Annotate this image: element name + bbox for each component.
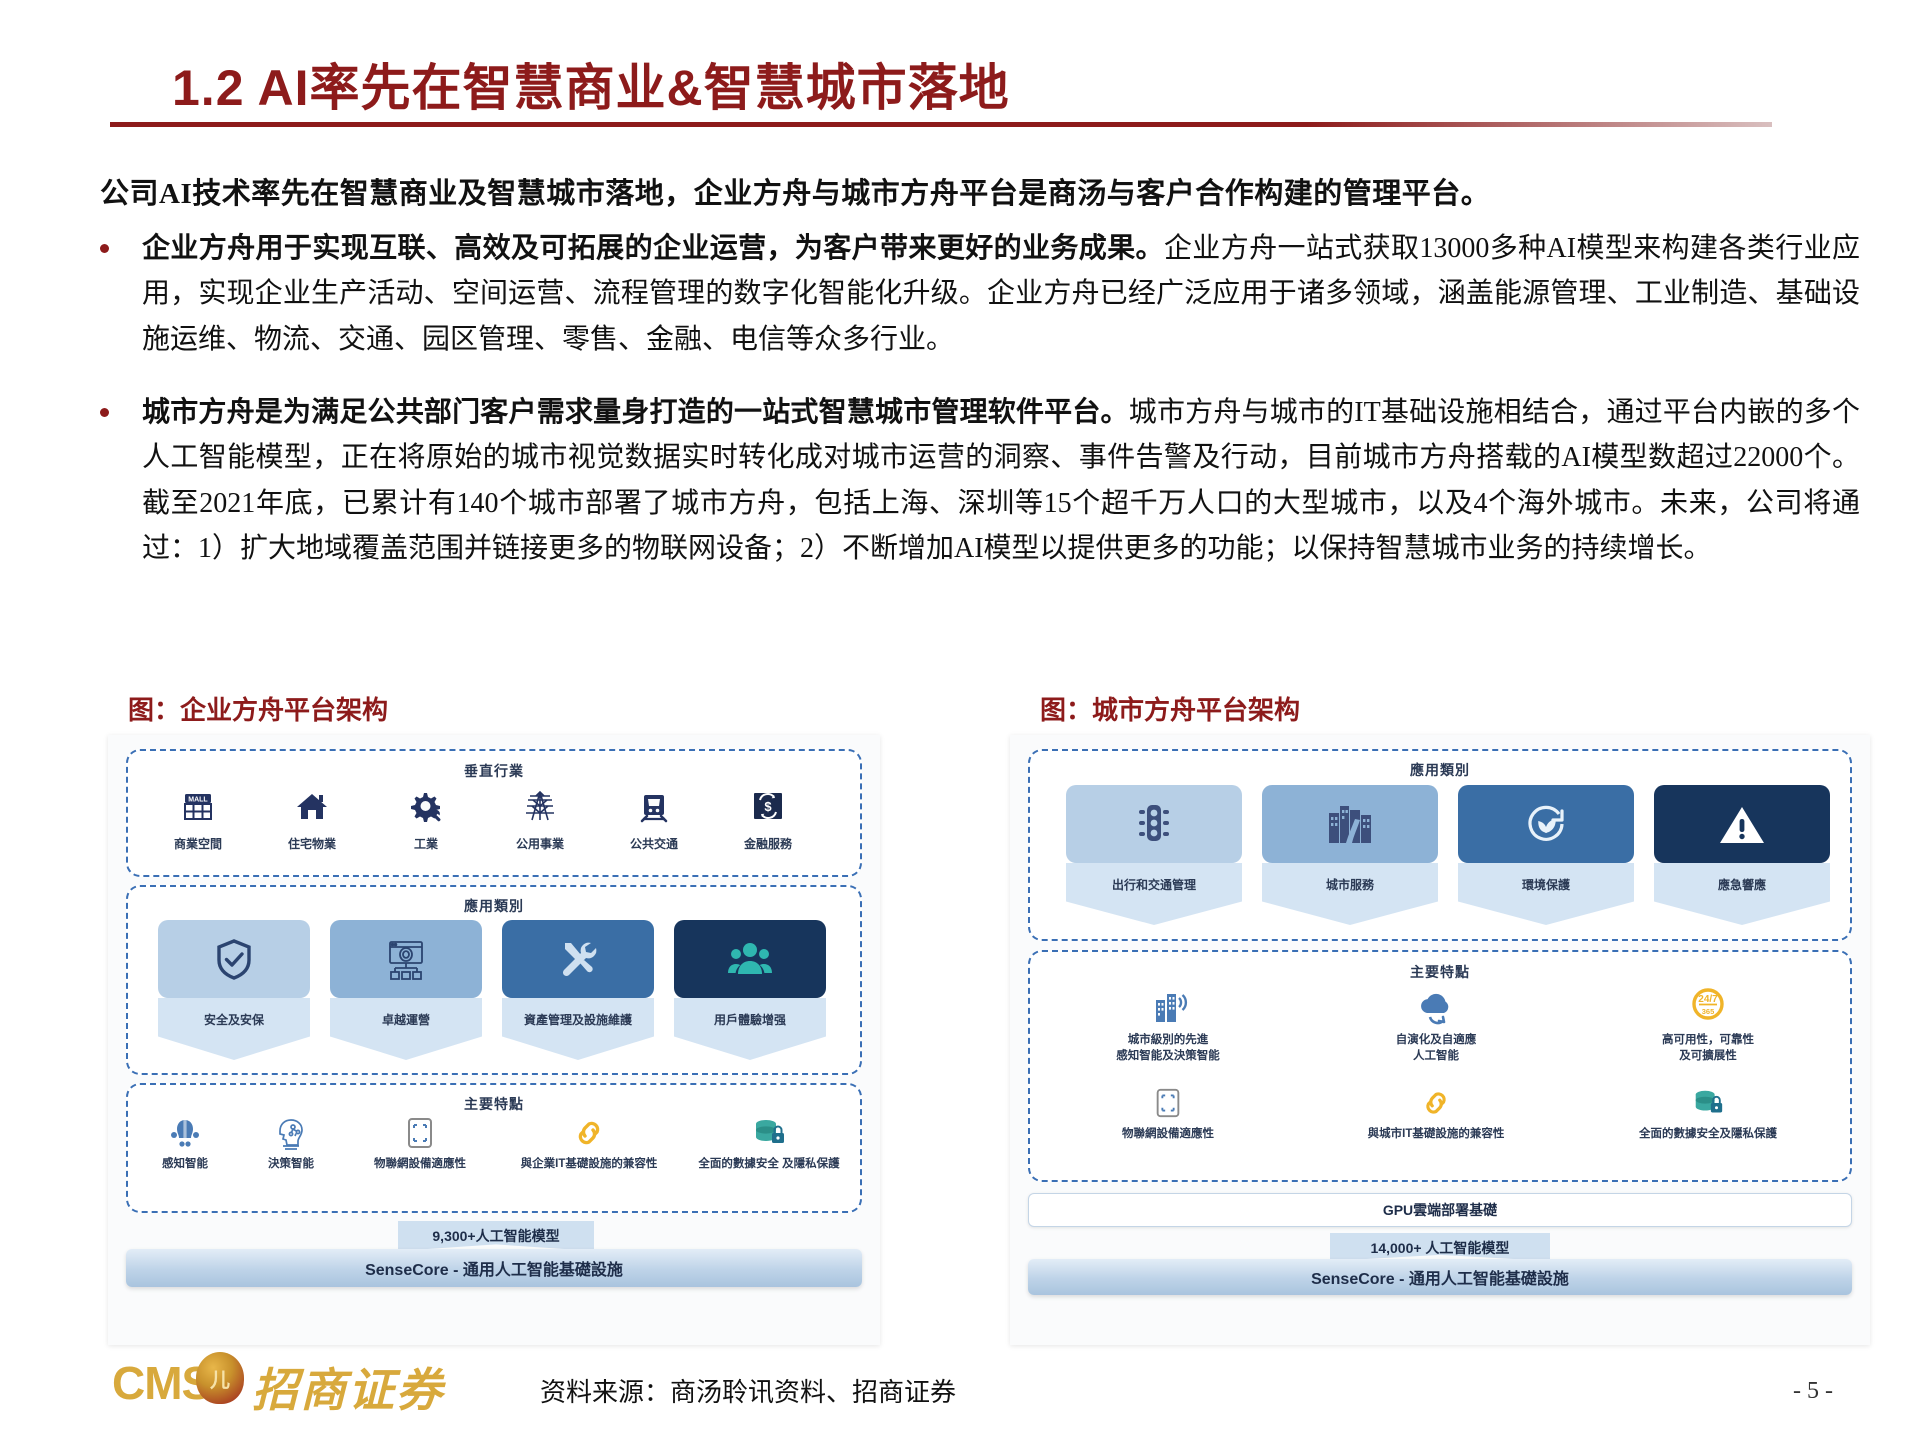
figure-caption-left: 图：企业方舟平台架构 (128, 690, 388, 727)
bullet-1-bold: 企业方舟用于实现互联、高效及可拓展的企业运营，为客户带来更好的业务成果。 (142, 233, 1164, 264)
app-card-emergency[interactable]: 應急響應 (1654, 785, 1830, 925)
iot-frame-icon (1060, 1083, 1276, 1123)
source-note: 资料来源：商汤聆讯资料、招商证券 (540, 1372, 956, 1409)
bullet-2-bold: 城市方舟是为满足公共部门客户需求量身打造的一站式智慧城市管理软件平台。 (142, 397, 1129, 428)
cms-logo-cn: 招商证券 (252, 1354, 444, 1420)
dashboard-icon (330, 920, 482, 998)
feature-iot-right: 物聯網設備適應性 (1060, 1083, 1276, 1143)
app-card-label-wrap: 安全及安保 (158, 998, 310, 1060)
link-chain-icon (494, 1113, 684, 1153)
app-card-operations[interactable]: 卓越運營 (330, 920, 482, 1060)
vertical-item-industry: 工業 (374, 783, 478, 852)
applications-band-title: 應用類別 (1030, 760, 1850, 780)
brain-head-icon (236, 1113, 346, 1153)
verticals-band-title: 垂直行業 (128, 761, 860, 781)
feature-label: 全面的數據安全 及隱私保護 (694, 1157, 844, 1173)
mall-icon: MALL (146, 783, 250, 829)
feature-label: 感知智能 (130, 1157, 240, 1173)
feature-label: 城市級別的先進 感知智能及決策智能 (1060, 1033, 1276, 1064)
feature-label: 高可用性，可靠性 及可擴展性 (1600, 1033, 1816, 1064)
applications-band-title: 應用類別 (128, 896, 860, 916)
city-road-icon (1262, 785, 1438, 863)
cms-seal-icon: 儿 (196, 1352, 244, 1404)
vertical-item-transit: 公共交通 (602, 783, 706, 852)
feature-label: 物聯網設備適應性 (1060, 1127, 1276, 1143)
feature-perception: 感知智能 (130, 1113, 240, 1173)
tools-icon (502, 920, 654, 998)
vertical-label: 工業 (374, 835, 478, 852)
users-icon (674, 920, 826, 998)
vertical-item-mall: MALL 商業空間 (146, 783, 250, 852)
feature-label: 與城市IT基礎設施的兼容性 (1328, 1127, 1544, 1143)
model-count-label: 14,000+ 人工智能模型 (1371, 1238, 1510, 1258)
vertical-label: 金融服務 (716, 835, 820, 852)
app-card-security[interactable]: 安全及安保 (158, 920, 310, 1060)
app-card-label: 安全及安保 (204, 1011, 264, 1028)
svg-text:$: $ (764, 799, 772, 814)
svg-text:365: 365 (1702, 1007, 1715, 1016)
app-card-label-wrap: 城市服務 (1262, 863, 1438, 925)
lead-paragraph: 公司AI技术率先在智慧商业及智慧城市落地，企业方舟与城市方舟平台是商汤与客户合作… (100, 170, 1850, 212)
app-card-label-wrap: 資產管理及設施維護 (502, 998, 654, 1060)
feature-label: 全面的數據安全及隱私保護 (1600, 1127, 1816, 1143)
traffic-light-icon (1066, 785, 1242, 863)
page-title: 1.2 AI率先在智慧商业&智慧城市落地 (172, 48, 1010, 120)
enterprise-ark-diagram: 垂直行業 MALL 商業空間 住宅物業 工業 公用事業 公共交通 $ (108, 735, 880, 1345)
app-card-traffic[interactable]: 出行和交通管理 (1066, 785, 1242, 925)
seal-glyph: 儿 (210, 1364, 230, 1393)
app-card-user-experience[interactable]: 用戶體驗增强 (674, 920, 826, 1060)
perception-icon (130, 1113, 240, 1153)
sensecore-bar-right: SenseCore - 通用人工智能基礎設施 (1028, 1259, 1852, 1295)
vertical-item-utilities: 公用事業 (488, 783, 592, 852)
app-card-label: 出行和交通管理 (1112, 876, 1196, 893)
app-card-label-wrap: 出行和交通管理 (1066, 863, 1242, 925)
vertical-item-residential: 住宅物業 (260, 783, 364, 852)
train-icon (602, 783, 706, 829)
db-lock-icon (694, 1113, 844, 1153)
vertical-item-finance: $ 金融服務 (716, 783, 820, 852)
feature-label: 與企業IT基礎設施的兼容性 (494, 1157, 684, 1173)
app-card-label-wrap: 環境保護 (1458, 863, 1634, 925)
app-card-label-wrap: 應急響應 (1654, 863, 1830, 925)
feature-label: 物聯網設備適應性 (346, 1157, 494, 1173)
app-card-label: 環境保護 (1522, 876, 1570, 893)
app-card-label: 城市服務 (1326, 876, 1374, 893)
iot-frame-icon (346, 1113, 494, 1153)
db-lock-icon (1600, 1083, 1816, 1123)
svg-text:MALL: MALL (188, 797, 208, 804)
power-tower-icon (488, 783, 592, 829)
feature-data-security-right: 全面的數據安全及隱私保護 (1600, 1083, 1816, 1143)
bullet-item-2: 城市方舟是为满足公共部门客户需求量身打造的一站式智慧城市管理软件平台。城市方舟与… (100, 390, 1860, 571)
app-card-label: 卓越運營 (382, 1011, 430, 1028)
app-card-label: 應急響應 (1718, 876, 1766, 893)
dollar-cycle-icon: $ (716, 783, 820, 829)
page-number: - 5 - (1793, 1378, 1833, 1405)
shield-check-icon (158, 920, 310, 998)
sensecore-label: SenseCore - 通用人工智能基礎設施 (1311, 1265, 1569, 1289)
app-card-asset-management[interactable]: 資產管理及設施維護 (502, 920, 654, 1060)
title-divider (110, 122, 1772, 127)
model-count-tab-left: 9,300+人工智能模型 (398, 1221, 594, 1251)
feature-city-ai: 城市級別的先進 感知智能及決策智能 (1060, 983, 1276, 1064)
bullet-item-1: 企业方舟用于实现互联、高效及可拓展的企业运营，为客户带来更好的业务成果。企业方舟… (100, 226, 1860, 362)
figure-caption-right: 图：城市方舟平台架构 (1040, 690, 1300, 727)
app-card-label: 用戶體驗增强 (714, 1011, 786, 1028)
feature-decision: 決策智能 (236, 1113, 346, 1173)
feature-it-compatibility: 與企業IT基礎設施的兼容性 (494, 1113, 684, 1173)
app-card-environment[interactable]: 環境保護 (1458, 785, 1634, 925)
app-card-label-wrap: 用戶體驗增强 (674, 998, 826, 1060)
feature-city-it-compatibility: 與城市IT基礎設施的兼容性 (1328, 1083, 1544, 1143)
link-chain-icon (1328, 1083, 1544, 1123)
feature-label: 決策智能 (236, 1157, 346, 1173)
eco-cycle-icon (1458, 785, 1634, 863)
app-card-city-service[interactable]: 城市服務 (1262, 785, 1438, 925)
city-signal-icon (1060, 983, 1276, 1029)
gpu-bar: GPU雲端部署基礎 (1028, 1193, 1852, 1227)
bullet-marker (100, 408, 109, 417)
feature-data-security: 全面的數據安全 及隱私保護 (694, 1113, 844, 1173)
sensecore-label: SenseCore - 通用人工智能基礎設施 (365, 1256, 623, 1280)
feature-label: 自演化及自適應 人工智能 (1328, 1033, 1544, 1064)
vertical-label: 商業空間 (146, 835, 250, 852)
feature-availability: 24/7365 高可用性，可靠性 及可擴展性 (1600, 983, 1816, 1064)
svg-text:24/7: 24/7 (1698, 994, 1718, 1005)
features-band-title: 主要特點 (1030, 962, 1850, 982)
app-card-label: 資產管理及設施維護 (524, 1011, 632, 1028)
model-count-label: 9,300+人工智能模型 (432, 1226, 559, 1246)
gear-wrench-icon (374, 783, 478, 829)
cloud-cycle-icon (1328, 983, 1544, 1029)
city-ark-diagram: 應用類別 出行和交通管理 城市服務 環境保護 應急響應 (1010, 735, 1870, 1345)
vertical-label: 住宅物業 (260, 835, 364, 852)
app-card-label-wrap: 卓越運營 (330, 998, 482, 1060)
bullet-marker (100, 244, 109, 253)
vertical-label: 公用事業 (488, 835, 592, 852)
vertical-label: 公共交通 (602, 835, 706, 852)
alert-icon (1654, 785, 1830, 863)
sensecore-bar-left: SenseCore - 通用人工智能基礎設施 (126, 1249, 862, 1287)
house-icon (260, 783, 364, 829)
gpu-label: GPU雲端部署基礎 (1383, 1200, 1497, 1220)
feature-self-evolving-ai: 自演化及自適應 人工智能 (1328, 983, 1544, 1064)
features-band-title: 主要特點 (128, 1094, 860, 1114)
feature-iot: 物聯網設備適應性 (346, 1113, 494, 1173)
model-count-tab-right: 14,000+ 人工智能模型 (1330, 1233, 1550, 1261)
24-7-icon: 24/7365 (1600, 983, 1816, 1029)
